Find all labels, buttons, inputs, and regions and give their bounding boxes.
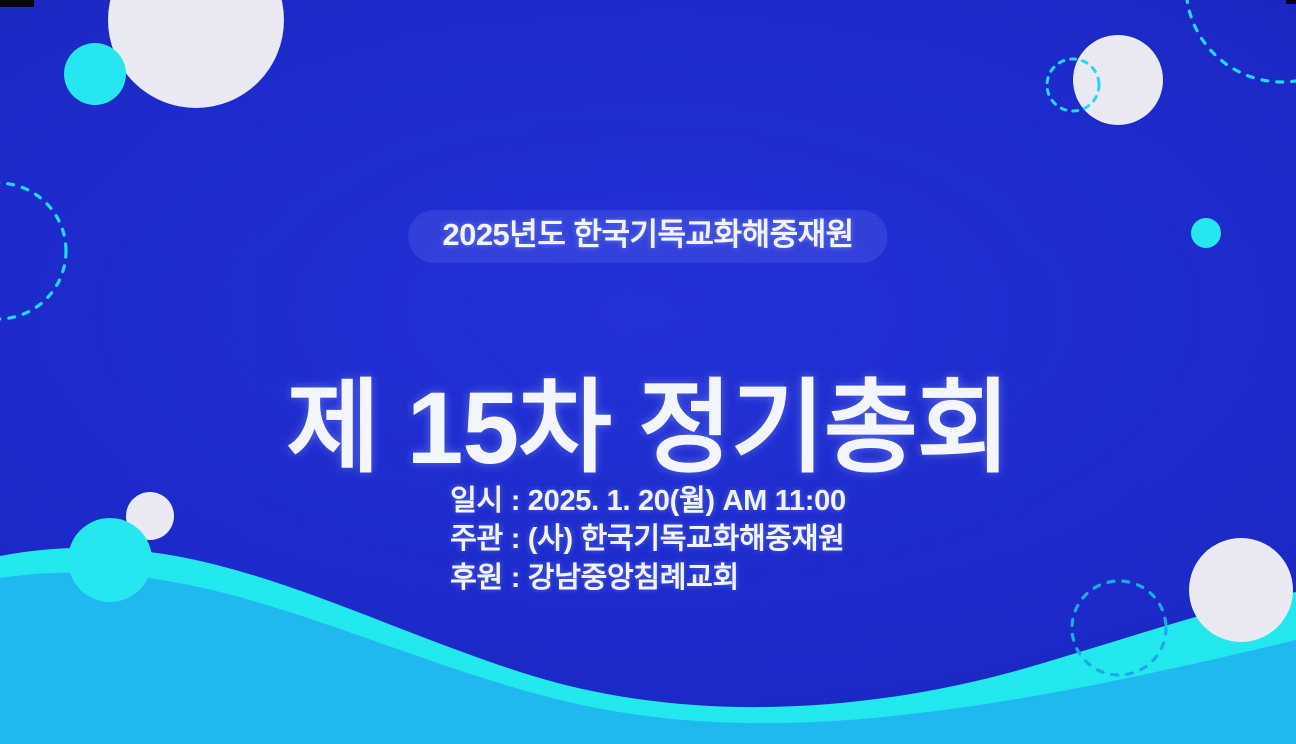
presentation-slide: 2025년도 한국기독교화해중재원 제 15차 정기총회 일시 : 2025. … <box>0 0 1296 744</box>
page-title: 제 15차 정기총회 <box>286 373 1009 483</box>
eyebrow-text: 2025년도 한국기독교화해중재원 <box>408 210 887 263</box>
screen-bezel-top-left <box>0 0 34 7</box>
detail-line-host: 주관 : (사) 한국기독교화해중재원 <box>450 520 846 558</box>
detail-line-sponsor: 후원 : 강남중앙침례교회 <box>450 559 846 597</box>
slide-content: 2025년도 한국기독교화해중재원 제 15차 정기총회 일시 : 2025. … <box>0 0 1296 744</box>
eyebrow-container: 2025년도 한국기독교화해중재원 <box>408 210 887 263</box>
event-details: 일시 : 2025. 1. 20(월) AM 11:00 주관 : (사) 한국… <box>450 482 846 597</box>
screen-bezel-top-right <box>1286 0 1296 4</box>
detail-line-datetime: 일시 : 2025. 1. 20(월) AM 11:00 <box>450 482 846 520</box>
